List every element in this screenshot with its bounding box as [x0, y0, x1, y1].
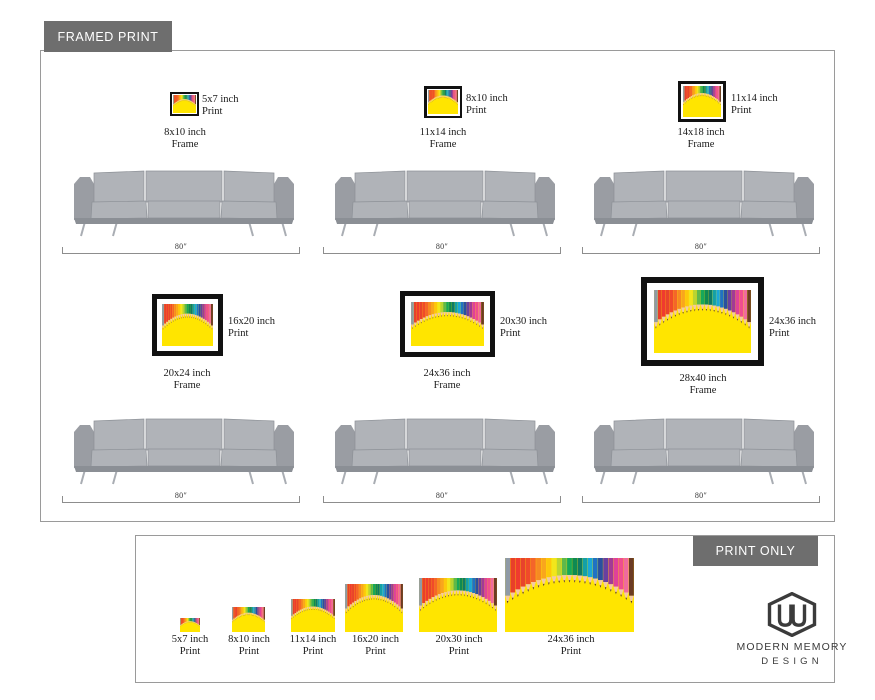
- pencil-artwork-svg: [654, 290, 751, 353]
- artwork-print: [654, 290, 751, 353]
- framed-artwork-1: [170, 92, 199, 116]
- framed-artwork-2: [424, 86, 462, 118]
- sofa-dimension-4: 80″: [62, 487, 300, 503]
- print-only-artwork-5: [419, 578, 497, 632]
- pencil-artwork-svg: [419, 578, 497, 632]
- print-size-label-1: 5x7 inch Print: [202, 94, 282, 118]
- print-size-label-5: 20x30 inch Print: [500, 316, 585, 340]
- sofa-dimension-5: 80″: [323, 487, 561, 503]
- pencil-artwork-svg: [345, 584, 403, 632]
- sofa-dimension-3: 80″: [582, 238, 820, 254]
- framed-artwork-3: [678, 81, 726, 122]
- pencil-artwork-svg: [411, 302, 484, 346]
- pencil-artwork-svg: [428, 90, 458, 114]
- framed-artwork-4: [152, 294, 223, 356]
- modern-memory-monogram-icon: [766, 592, 818, 637]
- pencil-artwork-svg: [180, 618, 200, 632]
- sofa-svg: [60, 392, 308, 498]
- sofa-illustration-4: [60, 392, 308, 498]
- print-only-artwork-6: [505, 558, 634, 632]
- sofa-illustration-3: [580, 144, 828, 250]
- framed-artwork-5: [400, 291, 495, 357]
- sofa-illustration-5: [321, 392, 569, 498]
- print-only-label-6: 24x36 inch Print: [527, 634, 615, 658]
- artwork-print: [173, 95, 196, 113]
- sofa-dimension-6: 80″: [582, 487, 820, 503]
- dimension-label: 80″: [62, 242, 300, 251]
- print-size-label-3: 11x14 inch Print: [731, 93, 816, 117]
- sofa-illustration-6: [580, 392, 828, 498]
- brand-logo: MODERN MEMORY DESIGN: [712, 592, 872, 674]
- sofa-illustration-2: [321, 144, 569, 250]
- framed-artwork-6: [641, 277, 764, 366]
- pencil-artwork-svg: [505, 558, 634, 632]
- dimension-label: 80″: [323, 491, 561, 500]
- pencil-artwork-svg: [291, 599, 335, 632]
- framed-print-tab: FRAMED PRINT: [44, 21, 172, 52]
- pencil-artwork-svg: [162, 304, 213, 346]
- artwork-print: [428, 90, 458, 114]
- dimension-label: 80″: [323, 242, 561, 251]
- print-size-label-4: 16x20 inch Print: [228, 316, 313, 340]
- sofa-dimension-1: 80″: [62, 238, 300, 254]
- print-only-label-5: 20x30 inch Print: [415, 634, 503, 658]
- frame-size-label-4: 20x24 inch Frame: [132, 368, 242, 392]
- product-size-guide-page: FRAMED PRINT 5x7 inch Print 8x10 inch Fr…: [0, 0, 875, 700]
- frame-size-label-5: 24x36 inch Frame: [392, 368, 502, 392]
- print-size-label-6: 24x36 inch Print: [769, 316, 854, 340]
- print-size-label-2: 8x10 inch Print: [466, 93, 546, 117]
- print-only-tab: PRINT ONLY: [693, 536, 818, 566]
- pencil-artwork-svg: [173, 95, 196, 113]
- sofa-dimension-2: 80″: [323, 238, 561, 254]
- dimension-label: 80″: [62, 491, 300, 500]
- sofa-svg: [580, 144, 828, 250]
- artwork-print: [162, 304, 213, 346]
- print-only-artwork-2: [232, 607, 265, 632]
- print-only-artwork-3: [291, 599, 335, 632]
- sofa-svg: [321, 144, 569, 250]
- logo-text-line1: MODERN MEMORY: [737, 641, 848, 653]
- dimension-label: 80″: [582, 491, 820, 500]
- artwork-print: [411, 302, 484, 346]
- print-only-artwork-4: [345, 584, 403, 632]
- sofa-illustration-1: [60, 144, 308, 250]
- dimension-label: 80″: [582, 242, 820, 251]
- pencil-artwork-svg: [683, 86, 721, 117]
- logo-text-line2: DESIGN: [761, 656, 823, 667]
- pencil-artwork-svg: [232, 607, 265, 632]
- sofa-svg: [60, 144, 308, 250]
- print-only-label-4: 16x20 inch Print: [333, 634, 418, 658]
- artwork-print: [683, 86, 721, 117]
- sofa-svg: [580, 392, 828, 498]
- sofa-svg: [321, 392, 569, 498]
- print-only-artwork-1: [180, 618, 200, 632]
